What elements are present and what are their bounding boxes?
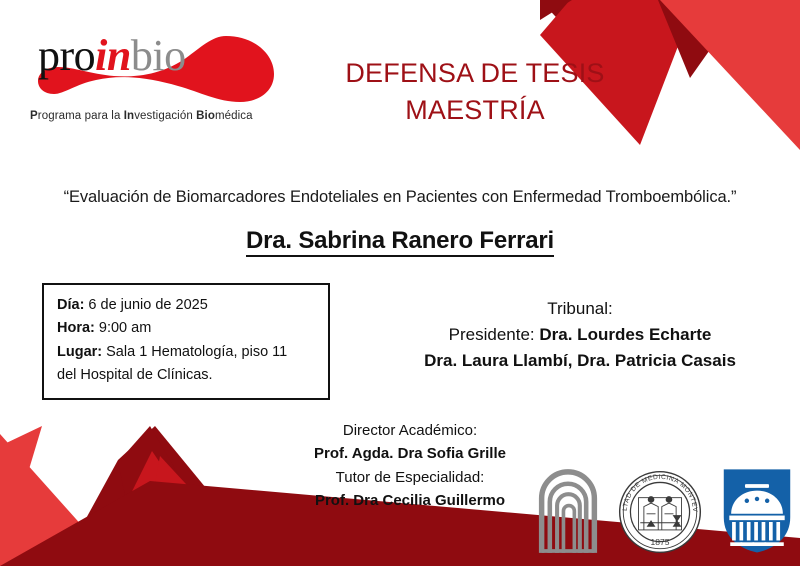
detail-day: Día: 6 de junio de 2025 (57, 294, 316, 317)
candidate-name-text: Dra. Sabrina Ranero Ferrari (246, 227, 554, 257)
tutor-name-text: Prof. Dra Cecilia Guillermo (315, 492, 505, 509)
deco-shape-maroon-tr (540, 0, 660, 48)
circular-seal-icon: FACULTAD DE MEDICINA MONTEVIDEO 1875 (617, 469, 703, 555)
candidate-name: Dra. Sabrina Ranero Ferrari (0, 227, 800, 255)
institution-logos: FACULTAD DE MEDICINA MONTEVIDEO 1875 (538, 450, 793, 555)
director-name-text: Prof. Agda. Dra Sofia Grille (314, 445, 506, 462)
headline-line-2: MAESTRÍA (310, 92, 640, 129)
proinbio-logo: proinbio Programa para la Investigación … (30, 28, 300, 122)
poster-headline: DEFENSA DE TESIS MAESTRÍA (310, 55, 640, 128)
director-label: Director Académico: (200, 419, 620, 442)
tribunal-section: Tribunal: Presidente: Dra. Lourdes Echar… (380, 296, 780, 373)
proinbio-tagline: Programa para la Investigación Biomédica (30, 110, 300, 122)
detail-time-label: Hora: (57, 320, 95, 336)
shield-building-icon (721, 465, 793, 555)
seal-year: 1875 (650, 537, 669, 547)
detail-day-value: 6 de junio de 2025 (84, 297, 207, 313)
tagline-medica: médica (215, 110, 253, 122)
detail-day-label: Día: (57, 297, 84, 313)
proinbio-logo-mark: proinbio (30, 28, 290, 108)
tagline-vestigacion: vestigación (134, 110, 196, 122)
tribunal-president: Presidente: Dra. Lourdes Echarte (380, 322, 780, 348)
thesis-defense-poster: proinbio Programa para la Investigación … (0, 0, 800, 566)
deco-shape-maroon2-tr (658, 0, 745, 78)
deco-shape-corner-tr (540, 0, 572, 20)
event-details-box: Día: 6 de junio de 2025 Hora: 9:00 am Lu… (42, 283, 330, 400)
detail-place: Lugar: Sala 1 Hematología, piso 11 (57, 341, 316, 364)
detail-place-value: Sala 1 Hematología, piso 11 (102, 344, 287, 360)
thesis-title: “Evaluación de Biomarcadores Endoteliale… (0, 188, 800, 207)
tribunal-heading: Tribunal: (380, 296, 780, 322)
tribunal-president-name: Dra. Lourdes Echarte (539, 325, 711, 344)
headline-line-1: DEFENSA DE TESIS (310, 55, 640, 92)
deco-shape-bright-red-bl (0, 426, 42, 566)
detail-place-line2: del Hospital de Clínicas. (57, 364, 316, 387)
proinbio-wordmark: proinbio (38, 34, 186, 78)
deco-shape-bright-red-tr (660, 0, 800, 150)
logo-word-pro: pro (38, 31, 95, 80)
tagline-rograma: rograma para la (38, 110, 124, 122)
nested-arches-icon (538, 467, 598, 555)
detail-place-label: Lugar: (57, 344, 102, 360)
deco-shape-bright-red2-bl (0, 434, 118, 566)
logo-word-bio: bio (131, 31, 186, 80)
tribunal-president-label: Presidente: (449, 325, 540, 344)
tagline-p: P (30, 110, 38, 122)
detail-time: Hora: 9:00 am (57, 317, 316, 340)
tagline-bio: Bio (196, 110, 215, 122)
detail-time-value: 9:00 am (95, 320, 151, 336)
logo-word-in: in (95, 31, 131, 80)
tribunal-members-names: Dra. Laura Llambí, Dra. Patricia Casais (424, 351, 736, 370)
tribunal-members: Dra. Laura Llambí, Dra. Patricia Casais (380, 348, 780, 374)
tagline-in: In (124, 110, 134, 122)
